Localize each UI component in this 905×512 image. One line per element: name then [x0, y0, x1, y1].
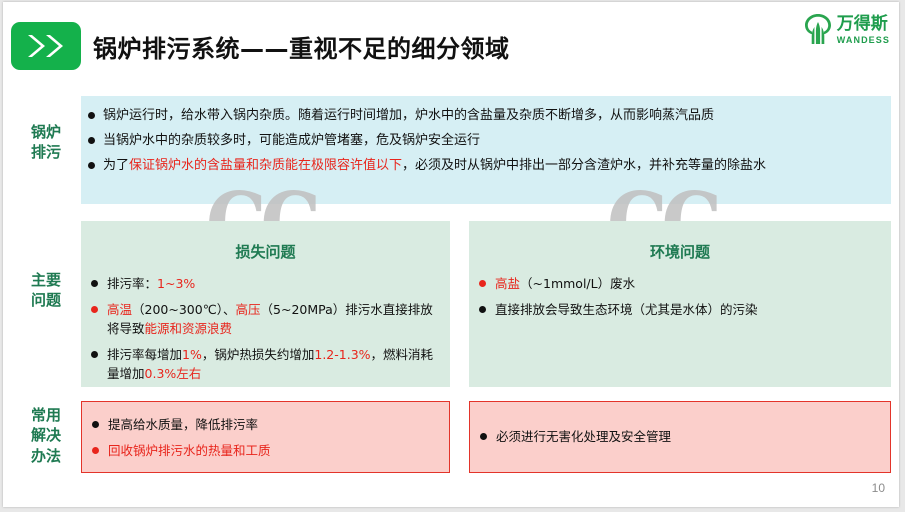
blowdown-bullet-list: 锅炉运行时，给水带入锅内杂质。随着运行时间增加，炉水中的含盐量及杂质不断增多，从… [81, 96, 891, 176]
row-label-common-solutions: 常用 解决 办法 [11, 405, 81, 466]
bullet-text-highlight: 能源和资源浪费 [145, 321, 233, 336]
list-item: 锅炉运行时，给水带入锅内杂质。随着运行时间增加，炉水中的含盐量及杂质不断增多，从… [103, 105, 881, 126]
bullet-text: ，锅炉热损失约增加 [202, 347, 315, 362]
loss-problem-bullet-list: 排污率：1~3% 高温（200~300℃）、高压（5~20MPa）排污水直接排放… [81, 262, 450, 383]
environment-problem-title: 环境问题 [469, 221, 891, 262]
double-chevron-right-icon [11, 22, 81, 70]
bullet-text: ，必须及时从锅炉中排出一部分含渣炉水，并补充等量的除盐水 [402, 158, 766, 173]
row-label-blowdown: 锅炉 排污 [11, 122, 81, 163]
brand-logo: 万得斯 WANDESS [803, 13, 890, 47]
list-item: 排污率每增加1%，锅炉热损失约增加1.2-1.3%，燃料消耗量增加0.3%左右 [107, 345, 438, 383]
bullet-text: （~1mmol/L）废水 [520, 276, 635, 291]
bullet-text: 必须进行无害化处理及安全管理 [496, 429, 671, 444]
brand-name-cn: 万得斯 [837, 16, 890, 33]
slide-canvas: 锅炉排污系统——重视不足的细分领域 万得斯 WANDESS 锅炉 排污 锅炉运行… [3, 2, 899, 507]
blowdown-panel: 锅炉运行时，给水带入锅内杂质。随着运行时间增加，炉水中的含盐量及杂质不断增多，从… [81, 96, 891, 204]
row-label-common-solutions-line3: 办法 [11, 446, 81, 466]
solution-right-bullet-list: 必须进行无害化处理及安全管理 [470, 402, 890, 446]
wandess-leaf-icon [803, 13, 833, 47]
row-label-blowdown-line1: 锅炉 [11, 122, 81, 142]
bullet-text: 提高给水质量，降低排污率 [108, 417, 258, 432]
bullet-text-highlight: 回收锅炉排污水的热量和工质 [108, 443, 271, 458]
row-label-main-problems: 主要 问题 [11, 270, 81, 311]
row-label-blowdown-line2: 排污 [11, 142, 81, 162]
bullet-text-highlight: 高温 [107, 302, 132, 317]
loss-problem-title: 损失问题 [81, 221, 450, 262]
row-label-main-problems-line1: 主要 [11, 270, 81, 290]
list-item: 回收锅炉排污水的热量和工质 [108, 441, 439, 460]
bullet-text: （200~300℃）、 [132, 302, 235, 317]
page-title: 锅炉排污系统——重视不足的细分领域 [93, 29, 510, 64]
row-label-common-solutions-line2: 解决 [11, 425, 81, 445]
bullet-text: 锅炉运行时，给水带入锅内杂质。随着运行时间增加，炉水中的含盐量及杂质不断增多，从… [103, 108, 714, 123]
list-item: 排污率：1~3% [107, 274, 438, 293]
brand-logo-text: 万得斯 WANDESS [837, 16, 890, 45]
brand-name-en: WANDESS [837, 36, 890, 45]
list-item: 高盐（~1mmol/L）废水 [495, 274, 879, 293]
page-number: 10 [872, 481, 885, 495]
row-label-common-solutions-line1: 常用 [11, 405, 81, 425]
bullet-text-highlight: 1.2-1.3% [314, 347, 370, 362]
environment-problem-panel: 环境问题 高盐（~1mmol/L）废水 直接排放会导致生态环境（尤其是水体）的污… [469, 221, 891, 387]
bullet-text: 为了 [103, 158, 129, 173]
list-item: 直接排放会导致生态环境（尤其是水体）的污染 [495, 300, 879, 319]
list-item: 当锅炉水中的杂质较多时，可能造成炉管堵塞，危及锅炉安全运行 [103, 130, 881, 151]
bullet-text: 排污率： [107, 276, 157, 291]
bullet-text: 直接排放会导致生态环境（尤其是水体）的污染 [495, 302, 758, 317]
bullet-text: 排污率每增加 [107, 347, 182, 362]
bullet-text-highlight: 1~3% [157, 276, 195, 291]
solution-right-panel: 必须进行无害化处理及安全管理 [469, 401, 891, 473]
list-item: 高温（200~300℃）、高压（5~20MPa）排污水直接排放将导致能源和资源浪… [107, 300, 438, 338]
solution-left-bullet-list: 提高给水质量，降低排污率 回收锅炉排污水的热量和工质 [82, 402, 449, 460]
solution-left-panel: 提高给水质量，降低排污率 回收锅炉排污水的热量和工质 [81, 401, 450, 473]
bullet-text: 当锅炉水中的杂质较多时，可能造成炉管堵塞，危及锅炉安全运行 [103, 133, 480, 148]
row-label-main-problems-line2: 问题 [11, 290, 81, 310]
bullet-text-highlight: 保证锅炉水的含盐量和杂质能在极限容许值以下 [129, 158, 402, 173]
bullet-text-highlight: 1% [182, 347, 202, 362]
bullet-text-highlight: 高压 [236, 302, 261, 317]
list-item: 必须进行无害化处理及安全管理 [496, 427, 880, 446]
bullet-text-highlight: 0.3%左右 [145, 366, 202, 381]
bullet-text-highlight: 高盐 [495, 276, 520, 291]
loss-problem-panel: 损失问题 排污率：1~3% 高温（200~300℃）、高压（5~20MPa）排污… [81, 221, 450, 387]
environment-problem-bullet-list: 高盐（~1mmol/L）废水 直接排放会导致生态环境（尤其是水体）的污染 [469, 262, 891, 319]
list-item: 提高给水质量，降低排污率 [108, 415, 439, 434]
slide-header: 锅炉排污系统——重视不足的细分领域 万得斯 WANDESS [3, 2, 899, 86]
